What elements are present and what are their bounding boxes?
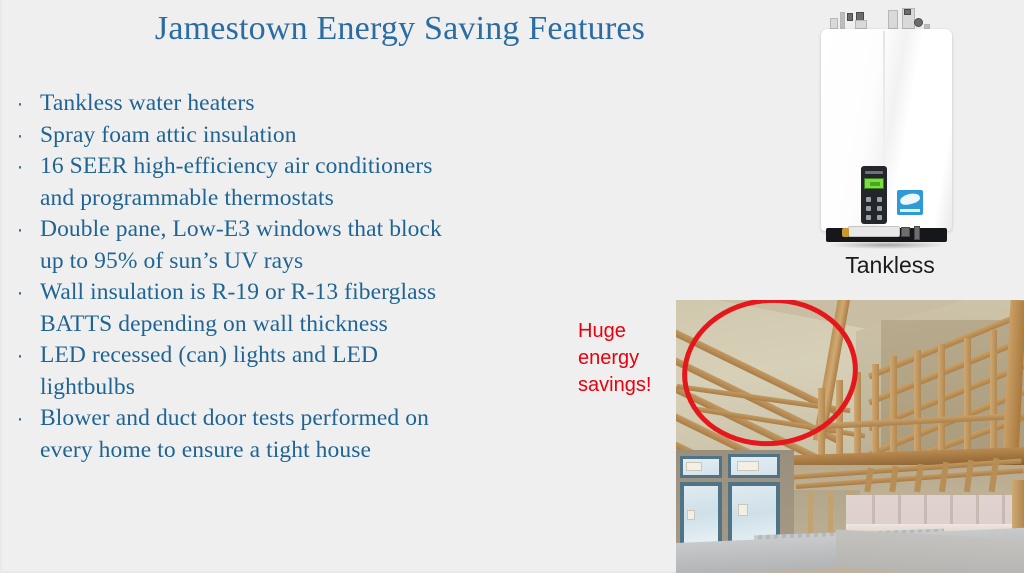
list-item-text: 16 SEER high-efficiency air conditioners… [40,151,580,214]
list-item-line2: every home to ensure a tight house [40,435,580,467]
energy-star-swoosh [899,192,921,207]
energy-star-text [900,209,920,212]
panel-button[interactable] [866,215,871,220]
list-item: · Tankless water heaters [0,88,580,120]
control-panel[interactable] [861,166,887,224]
list-item-line1: Wall insulation is R-19 or R-13 fibergla… [40,279,436,305]
lcd-digits [870,182,880,186]
wall-stud [964,338,971,460]
list-item: · Spray foam attic insulation [0,120,580,152]
savings-callout: Huge energy savings! [578,318,678,399]
pipe-fitting-icon [847,13,853,21]
pipe-fitting-icon [840,12,845,29]
list-item: · Double pane, Low-E3 windows that block… [0,214,580,277]
list-item: · Wall insulation is R-19 or R-13 fiberg… [0,277,580,340]
list-item-text: Spray foam attic insulation [40,120,580,152]
tankless-water-heater-icon: Tankless [800,0,1024,290]
panel-button[interactable] [877,215,882,220]
pipe-fitting-icon [914,226,920,240]
wall-stud [872,364,879,460]
energy-features-list: · Tankless water heaters · Spray foam at… [0,88,580,466]
bullet-marker-icon: · [0,277,40,309]
list-item-text: Wall insulation is R-19 or R-13 fibergla… [40,277,580,340]
savings-callout-line2: energy [578,345,678,372]
heater-shadow [830,241,944,249]
pipe-fitting-icon [830,18,838,29]
list-item-text: LED recessed (can) lights and LED lightb… [40,340,580,403]
list-item-line2: lightbulbs [40,372,580,404]
heater-body [821,29,952,231]
pipe-fitting-icon [904,9,911,15]
panel-button[interactable] [866,197,871,202]
transom-window [728,454,780,478]
list-item-text: Blower and duct door tests performed on … [40,403,580,466]
list-item-text: Tankless water heaters [40,88,580,120]
window-sticker [738,504,748,516]
panel-button[interactable] [866,206,871,211]
bullet-marker-icon: · [0,340,40,372]
pipe-fitting-icon [914,18,923,27]
wall-stud [990,330,997,460]
savings-callout-line3: savings! [578,372,678,399]
list-item: · Blower and duct door tests performed o… [0,403,580,466]
panel-button[interactable] [877,206,882,211]
pipe-fitting-icon [855,20,867,29]
wall-stud [914,350,921,460]
list-item-line1: Double pane, Low-E3 windows that block [40,216,442,242]
list-item-text: Double pane, Low-E3 windows that block u… [40,214,580,277]
bullet-marker-icon: · [0,120,40,152]
energy-star-icon [897,190,923,215]
pipe-fitting-icon [888,10,898,29]
list-item-line1: 16 SEER high-efficiency air conditioners [40,153,433,179]
list-item-line1: LED recessed (can) lights and LED [40,342,378,368]
pipe-fitting-icon [901,227,910,237]
bullet-marker-icon: · [0,403,40,435]
bullet-marker-icon: · [0,88,40,120]
list-item: · LED recessed (can) lights and LED ligh… [0,340,580,403]
list-item-line2: and programmable thermostats [40,183,580,215]
bullet-marker-icon: · [0,151,40,183]
list-item: · 16 SEER high-efficiency air conditione… [0,151,580,214]
lcd-display [864,178,884,189]
savings-callout-line1: Huge [578,318,678,345]
list-item-line1: Spray foam attic insulation [40,122,297,148]
window-sticker [737,461,759,471]
window-sticker [686,462,702,471]
brass-valve-icon [842,228,849,237]
bottom-manifold [848,226,900,237]
brand-label [865,171,883,174]
list-item-line1: Blower and duct door tests performed on [40,405,429,431]
transom-window [680,456,722,478]
wall-stud [890,356,897,460]
bullet-marker-icon: · [0,214,40,246]
window-sticker [687,510,695,520]
page-title: Jamestown Energy Saving Features [0,10,800,48]
slide-canvas: Jamestown Energy Saving Features · Tankl… [0,0,1024,573]
list-item-line2: BATTS depending on wall thickness [40,309,580,341]
list-item-line2: up to 95% of sun’s UV rays [40,246,580,278]
panel-button[interactable] [877,197,882,202]
list-item-line1: Tankless water heaters [40,90,255,116]
tankless-caption: Tankless [800,252,980,279]
attic-insulation-photo [676,300,1024,573]
wall-stud [938,344,945,460]
